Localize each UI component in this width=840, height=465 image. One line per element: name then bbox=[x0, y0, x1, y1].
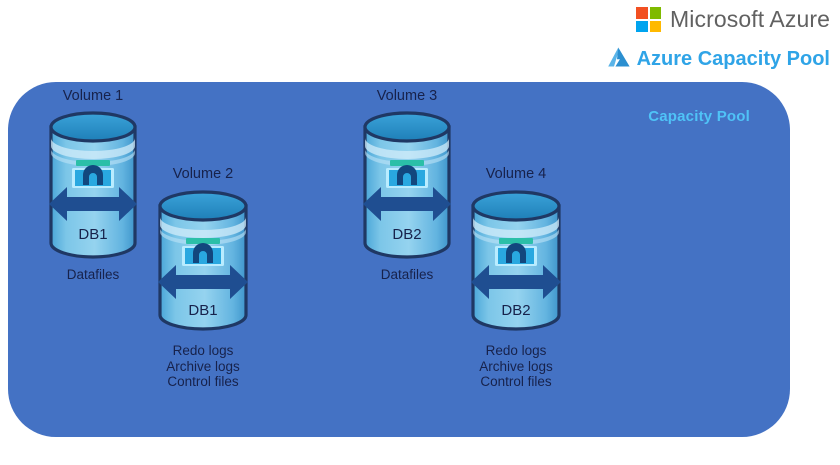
volume-title: Volume 3 bbox=[352, 88, 462, 104]
volume-title: Volume 4 bbox=[461, 166, 571, 182]
volume-db-label: DB2 bbox=[468, 302, 564, 319]
volume-caption-line: Archive logs bbox=[461, 359, 571, 375]
netapp-storage-icon bbox=[495, 238, 537, 266]
volume-caption: Datafiles bbox=[352, 267, 462, 283]
netapp-storage-icon bbox=[182, 238, 224, 266]
netapp-storage-icon bbox=[386, 160, 428, 188]
diagram-canvas: Microsoft Azure Azure Capacity Pool Capa… bbox=[0, 0, 840, 465]
microsoft-azure-brand: Microsoft Azure bbox=[636, 6, 830, 33]
volume-db-label: DB2 bbox=[361, 226, 453, 243]
microsoft-azure-label: Microsoft Azure bbox=[670, 6, 830, 33]
volume-cylinder: DB1 bbox=[155, 186, 251, 338]
volume-caption-line: Control files bbox=[461, 374, 571, 390]
azure-capacity-pool-brand: Azure Capacity Pool bbox=[607, 46, 830, 73]
volume-title: Volume 1 bbox=[38, 88, 148, 104]
volume-cylinder: DB2 bbox=[468, 186, 564, 338]
volume-group-3[interactable]: Volume 3 bbox=[352, 88, 462, 283]
volume-cylinder: DB2 bbox=[361, 108, 453, 262]
volume-caption-line: Datafiles bbox=[38, 267, 148, 283]
azure-triangle-icon bbox=[607, 46, 631, 73]
volume-title: Volume 2 bbox=[148, 166, 258, 182]
volume-caption: Redo logs Archive logs Control files bbox=[148, 343, 258, 390]
volume-caption: Redo logs Archive logs Control files bbox=[461, 343, 571, 390]
volume-group-1[interactable]: Volume 1 bbox=[38, 88, 148, 283]
volume-group-2[interactable]: Volume 2 bbox=[148, 166, 258, 390]
volume-caption: Datafiles bbox=[38, 267, 148, 283]
volume-db-label: DB1 bbox=[155, 302, 251, 319]
capacity-pool-label: Capacity Pool bbox=[648, 108, 750, 125]
netapp-storage-icon bbox=[72, 160, 114, 188]
volume-caption-line: Datafiles bbox=[352, 267, 462, 283]
volume-caption-line: Redo logs bbox=[461, 343, 571, 359]
volume-caption-line: Control files bbox=[148, 374, 258, 390]
volume-caption-line: Archive logs bbox=[148, 359, 258, 375]
volume-cylinder: DB1 bbox=[47, 108, 139, 262]
volume-group-4[interactable]: Volume 4 bbox=[461, 166, 571, 390]
microsoft-squares-icon bbox=[636, 7, 661, 32]
volume-db-label: DB1 bbox=[47, 226, 139, 243]
volume-caption-line: Redo logs bbox=[148, 343, 258, 359]
azure-capacity-pool-label: Azure Capacity Pool bbox=[637, 48, 830, 71]
